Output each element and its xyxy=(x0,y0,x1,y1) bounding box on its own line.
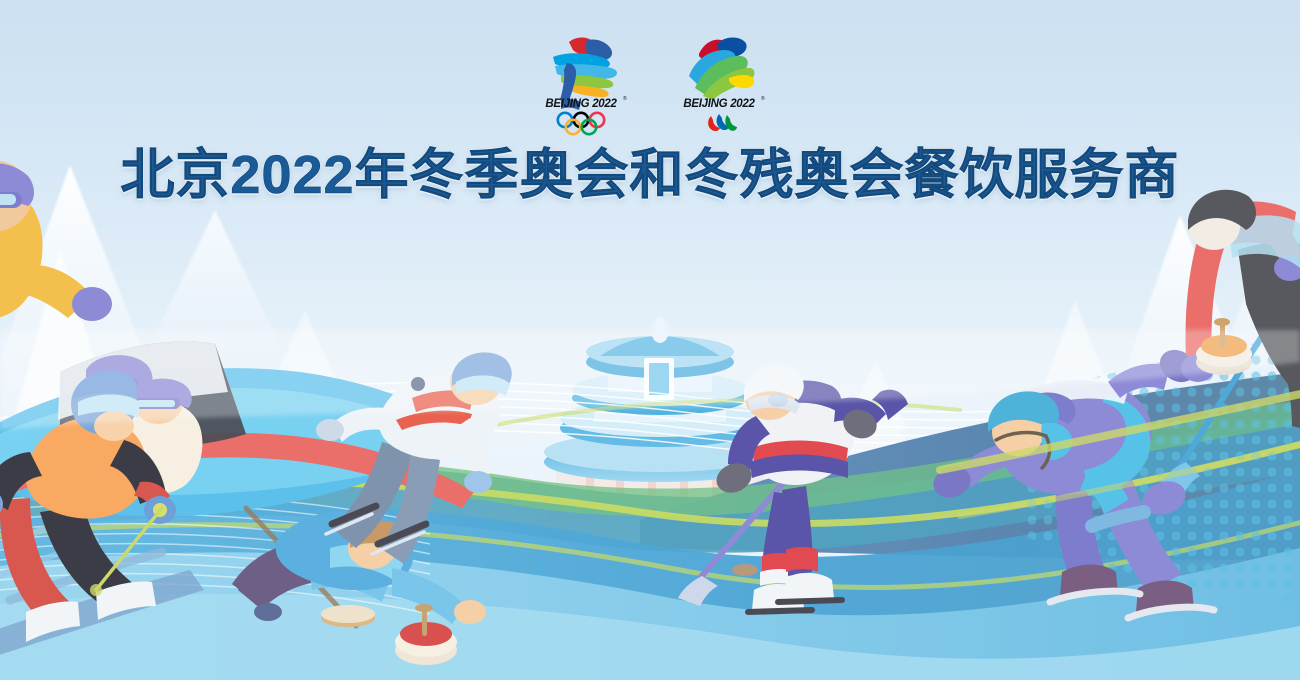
leap-symbol xyxy=(689,38,754,101)
paralympic-emblem: BEIJING 2022 ® xyxy=(669,30,769,138)
paralympic-agitos xyxy=(708,114,737,131)
beijing-2022-banner: BEIJING 2022 ® xyxy=(0,0,1300,680)
olympic-wordmark: BEIJING 2022 xyxy=(545,98,617,110)
title-container: 北京2022年冬季奥会和冬残奥会餐饮服务商 xyxy=(0,146,1300,204)
paralympic-wordmark: BEIJING 2022 xyxy=(683,98,755,110)
svg-text:®: ® xyxy=(623,95,627,102)
svg-text:®: ® xyxy=(761,95,765,102)
page-title: 北京2022年冬季奥会和冬残奥会餐饮服务商 xyxy=(120,146,1179,204)
hockey-puck xyxy=(732,564,758,576)
olympic-rings xyxy=(558,113,604,134)
olympic-emblem: BEIJING 2022 ® xyxy=(531,30,631,138)
